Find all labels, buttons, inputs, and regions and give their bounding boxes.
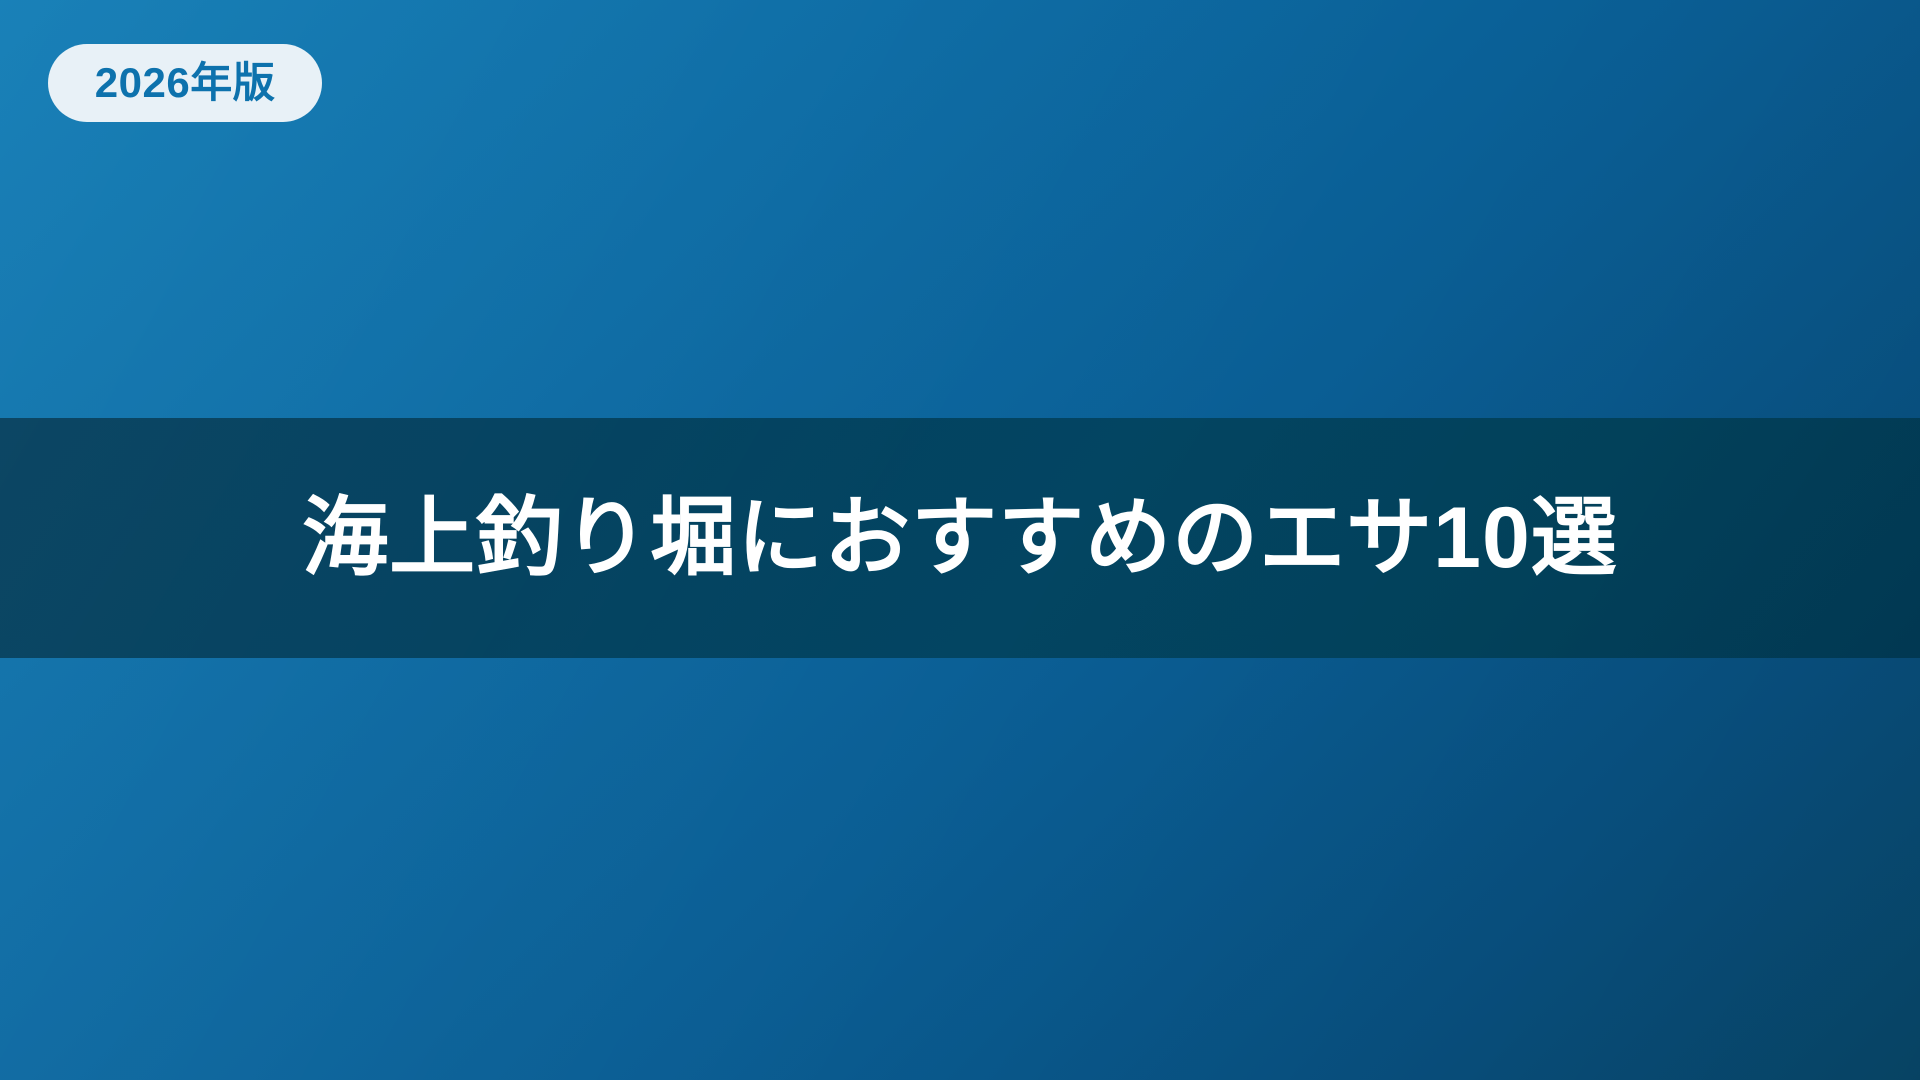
year-badge-label: 2026年版 <box>95 62 275 104</box>
title-band: 海上釣り堀におすすめのエサ10選 <box>0 418 1920 658</box>
year-badge: 2026年版 <box>48 44 322 122</box>
page-title: 海上釣り堀におすすめのエサ10選 <box>262 489 1658 588</box>
hero-banner: 2026年版 海上釣り堀におすすめのエサ10選 <box>0 0 1920 1080</box>
